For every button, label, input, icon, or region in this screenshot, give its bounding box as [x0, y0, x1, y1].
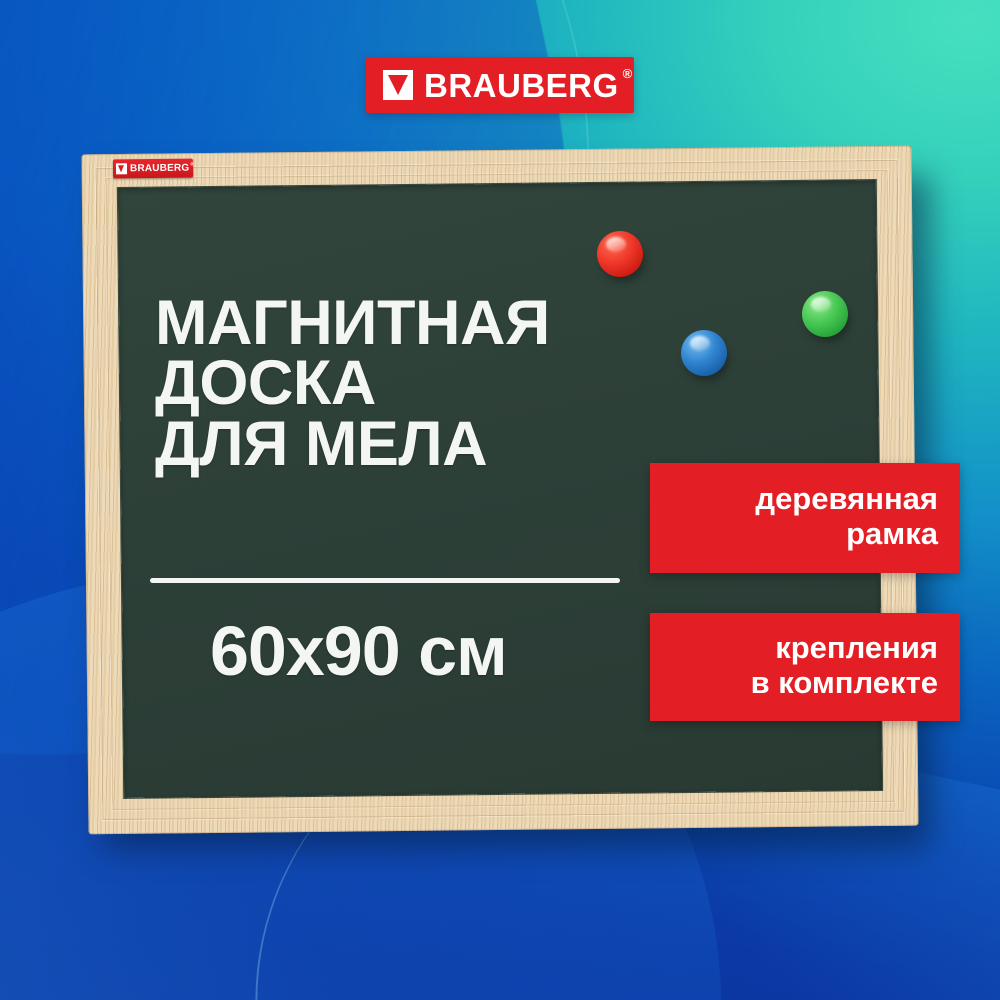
board-corner-logo: BRAUBERG ®	[113, 159, 193, 179]
product-banner: BRAUBERG ® BRAUBERG ® МАГНИТНАЯ ДОСКА ДЛ…	[0, 0, 1000, 1000]
magnet-green	[802, 291, 848, 337]
badge-wooden-frame-line-1: деревянная	[755, 482, 938, 517]
checkmark-icon	[116, 163, 127, 174]
badge-wooden-frame: деревянная рамка	[650, 463, 960, 573]
badge-mounts-included-line-1: крепления	[775, 631, 938, 666]
registered-mark-icon: ®	[190, 162, 194, 168]
magnet-red	[597, 231, 643, 277]
headline-line-1: МАГНИТНАЯ	[155, 293, 675, 353]
brauberg-logo-text: BRAUBERG	[424, 69, 619, 102]
headline-line-3: ДЛЯ МЕЛА	[155, 414, 675, 474]
headline-divider	[150, 578, 620, 583]
product-headline: МАГНИТНАЯ ДОСКА ДЛЯ МЕЛА	[155, 293, 675, 474]
brauberg-logo: BRAUBERG ®	[366, 57, 634, 113]
product-size: 60x90 см	[210, 616, 507, 686]
checkmark-icon	[383, 70, 413, 100]
badge-wooden-frame-line-2: рамка	[846, 517, 938, 552]
registered-mark-icon: ®	[623, 66, 633, 81]
headline-line-2: ДОСКА	[155, 353, 675, 413]
magnet-blue	[681, 330, 727, 376]
badge-mounts-included: крепления в комплекте	[650, 613, 960, 721]
board-corner-logo-text: BRAUBERG	[130, 163, 189, 174]
badge-mounts-included-line-2: в комплекте	[751, 666, 938, 701]
